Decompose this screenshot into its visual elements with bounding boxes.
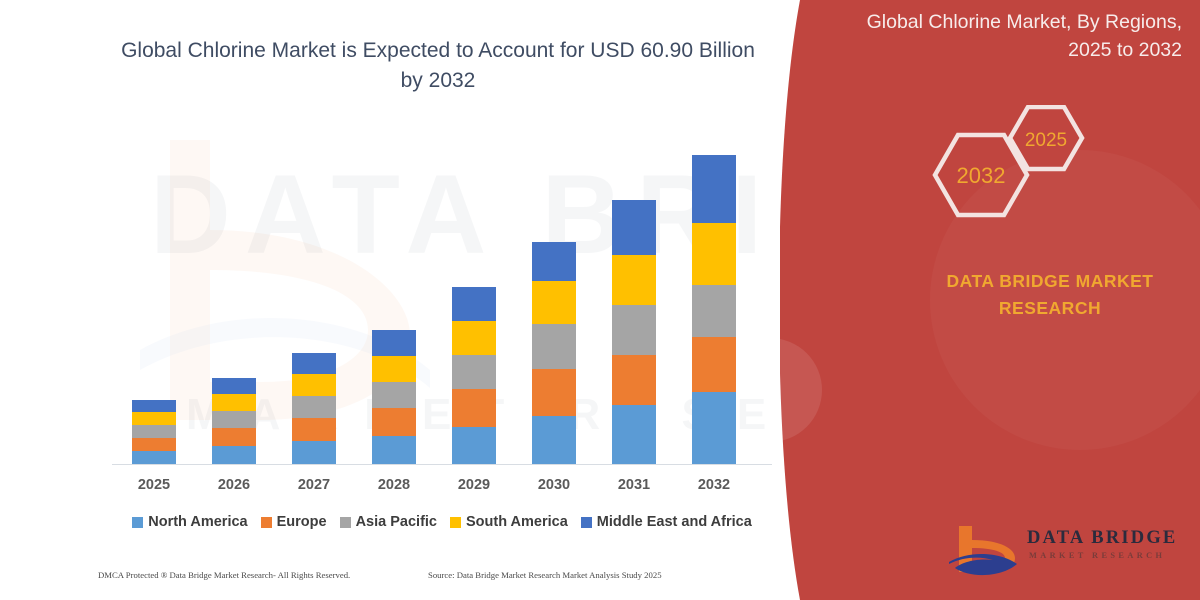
segment-asia-pacific-2029	[452, 355, 496, 389]
legend-label: Europe	[277, 514, 327, 530]
segment-north-america-2030	[532, 416, 576, 464]
logo-tagline: MARKET RESEARCH	[1029, 551, 1165, 560]
logo-wordmark: DATA BRIDGE	[1027, 528, 1177, 549]
segment-middle-east-and-africa-2027	[292, 353, 336, 374]
segment-north-america-2029	[452, 427, 496, 464]
x-axis-line	[112, 464, 772, 465]
legend-label: South America	[466, 514, 568, 530]
segment-europe-2030	[532, 369, 576, 416]
x-axis-label-2030: 2030	[524, 477, 584, 493]
hexagon-2025-label: 2025	[1025, 130, 1067, 151]
infographic-root: DATA BRIDGE MARKET RESEARCH Global Chlor…	[0, 0, 1200, 600]
segment-asia-pacific-2025	[132, 425, 176, 438]
bar-2031	[612, 200, 656, 464]
segment-europe-2029	[452, 389, 496, 427]
segment-north-america-2028	[372, 436, 416, 464]
legend-swatch-icon	[132, 517, 143, 528]
segment-south-america-2025	[132, 412, 176, 425]
segment-middle-east-and-africa-2026	[212, 378, 256, 394]
segment-north-america-2025	[132, 451, 176, 464]
x-axis-label-2025: 2025	[124, 477, 184, 493]
segment-middle-east-and-africa-2030	[532, 242, 576, 281]
bar-2030	[532, 242, 576, 464]
segment-europe-2025	[132, 438, 176, 451]
bar-2028	[372, 330, 416, 464]
legend-item-middle-east-and-africa[interactable]: Middle East and Africa	[581, 514, 752, 530]
x-axis-label-2029: 2029	[444, 477, 504, 493]
segment-middle-east-and-africa-2029	[452, 287, 496, 321]
x-axis-label-2028: 2028	[364, 477, 424, 493]
segment-south-america-2029	[452, 321, 496, 355]
footer-copyright: DMCA Protected ® Data Bridge Market Rese…	[98, 570, 350, 580]
segment-middle-east-and-africa-2032	[692, 155, 736, 223]
segment-europe-2027	[292, 418, 336, 441]
legend-swatch-icon	[261, 517, 272, 528]
brand-name: DATA BRIDGE MARKET RESEARCH	[910, 268, 1190, 322]
company-logo: DATA BRIDGE MARKET RESEARCH	[945, 522, 1190, 584]
x-axis-label-2026: 2026	[204, 477, 264, 493]
x-axis-label-2031: 2031	[604, 477, 664, 493]
segment-south-america-2030	[532, 281, 576, 324]
segment-asia-pacific-2028	[372, 382, 416, 408]
segment-north-america-2032	[692, 392, 736, 464]
segment-middle-east-and-africa-2031	[612, 200, 656, 255]
brand-line-1: DATA BRIDGE MARKET	[947, 271, 1154, 291]
segment-south-america-2031	[612, 255, 656, 305]
segment-north-america-2027	[292, 441, 336, 464]
panel-title: Global Chlorine Market, By Regions, 2025…	[822, 8, 1182, 65]
legend-item-south-america[interactable]: South America	[450, 514, 568, 530]
legend-label: Asia Pacific	[356, 514, 437, 530]
segment-south-america-2028	[372, 356, 416, 382]
segment-asia-pacific-2031	[612, 305, 656, 355]
segment-south-america-2026	[212, 394, 256, 411]
segment-middle-east-and-africa-2028	[372, 330, 416, 356]
segment-middle-east-and-africa-2025	[132, 400, 176, 412]
year-hexagons: 2032 2025	[900, 105, 1130, 245]
segment-asia-pacific-2030	[532, 324, 576, 369]
legend-label: North America	[148, 514, 247, 530]
legend-label: Middle East and Africa	[597, 514, 752, 530]
legend-swatch-icon	[340, 517, 351, 528]
segment-europe-2032	[692, 337, 736, 392]
brand-line-2: RESEARCH	[999, 298, 1101, 318]
legend-swatch-icon	[581, 517, 592, 528]
legend-item-north-america[interactable]: North America	[132, 514, 247, 530]
bar-2027	[292, 353, 336, 464]
segment-europe-2026	[212, 428, 256, 446]
bar-2025	[132, 400, 176, 464]
x-axis-label-2027: 2027	[284, 477, 344, 493]
segment-south-america-2032	[692, 223, 736, 285]
x-axis-label-2032: 2032	[684, 477, 744, 493]
footer-source: Source: Data Bridge Market Research Mark…	[428, 570, 662, 580]
chart-legend: North AmericaEuropeAsia PacificSouth Ame…	[112, 514, 772, 530]
segment-south-america-2027	[292, 374, 336, 396]
page-title: Global Chlorine Market is Expected to Ac…	[118, 36, 758, 97]
brand-panel: Global Chlorine Market, By Regions, 2025…	[780, 0, 1200, 600]
bar-2029	[452, 287, 496, 464]
legend-item-europe[interactable]: Europe	[261, 514, 327, 530]
hexagon-2032-label: 2032	[957, 163, 1006, 188]
segment-europe-2031	[612, 355, 656, 405]
segment-asia-pacific-2032	[692, 285, 736, 337]
logo-mark-icon	[945, 522, 1025, 584]
segment-north-america-2031	[612, 405, 656, 464]
segment-asia-pacific-2026	[212, 411, 256, 428]
legend-item-asia-pacific[interactable]: Asia Pacific	[340, 514, 437, 530]
legend-swatch-icon	[450, 517, 461, 528]
segment-asia-pacific-2027	[292, 396, 336, 418]
segment-north-america-2026	[212, 446, 256, 464]
bar-2026	[212, 378, 256, 464]
segment-europe-2028	[372, 408, 416, 436]
bar-2032	[692, 155, 736, 464]
